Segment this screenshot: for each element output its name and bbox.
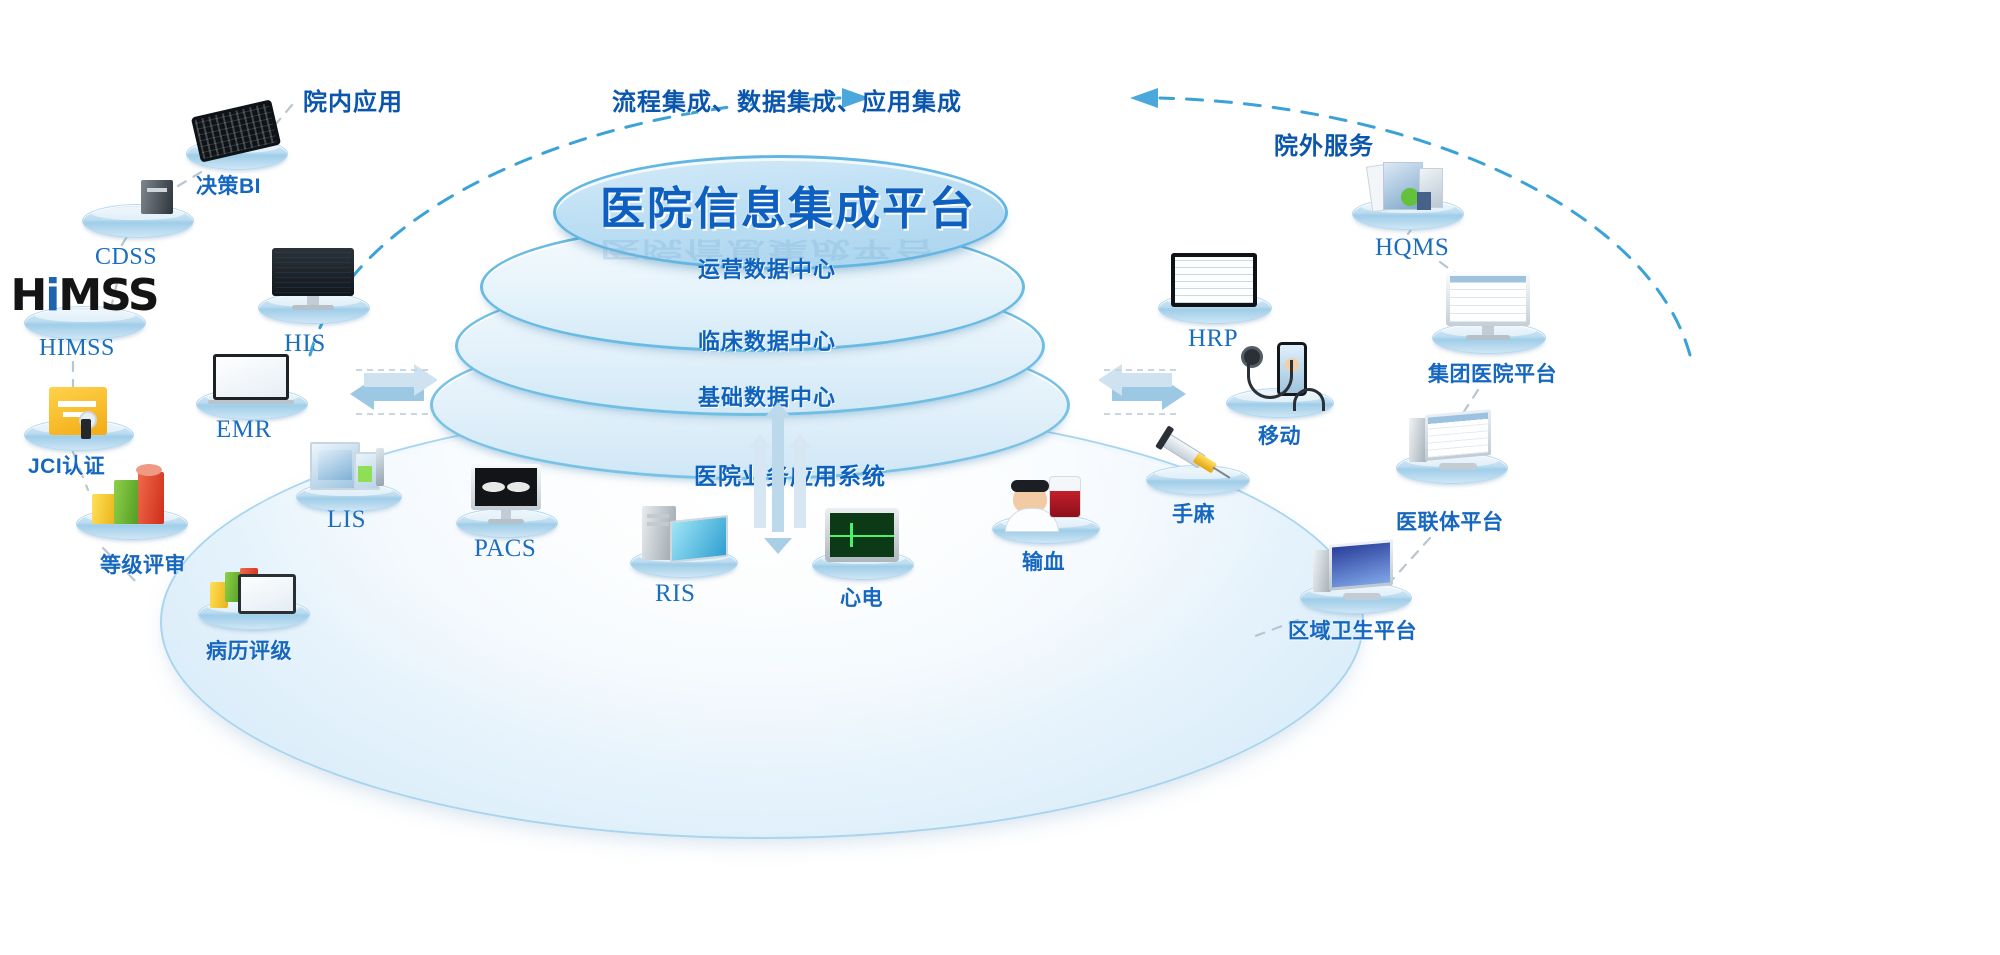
label-group-hospital-platform: 集团医院平台	[1428, 358, 1557, 388]
desktop-blue-icon	[1313, 542, 1397, 600]
server-rack-icon	[101, 168, 173, 220]
node-hqms[interactable]	[1352, 158, 1462, 230]
label-decision-bi: 决策BI	[196, 170, 261, 200]
laptop-chart-icon	[210, 556, 296, 614]
label-lis: LIS	[327, 506, 366, 534]
mobile-stethoscope-icon	[1237, 342, 1321, 406]
label-himss: HIMSS	[39, 335, 115, 362]
label-ris: RIS	[655, 580, 695, 608]
blood-transfusion-icon	[1005, 472, 1085, 532]
desktop-network-icon	[1409, 412, 1493, 470]
node-himss[interactable]: HiMSS	[24, 268, 144, 340]
node-pacs[interactable]	[456, 470, 556, 538]
desktop-portal-icon	[1446, 272, 1530, 340]
bidirectional-arrows-icon-left	[340, 356, 448, 422]
laptop-report-icon	[1171, 253, 1257, 309]
lab-analyzer-icon	[310, 440, 386, 498]
node-record-rating[interactable]	[198, 558, 308, 630]
label-anesthesia: 手麻	[1172, 498, 1215, 528]
label-ecg: 心电	[840, 582, 883, 612]
node-regional-health-platform[interactable]	[1300, 540, 1410, 614]
ecg-monitor-icon	[825, 508, 899, 566]
vertical-double-arrow-icon	[744, 408, 814, 538]
label-hrp: HRP	[1188, 325, 1238, 353]
label-record-rating: 病历评级	[206, 635, 292, 665]
label-medical-alliance-platform: 医联体平台	[1396, 506, 1504, 536]
node-cdss[interactable]	[82, 168, 192, 238]
documents-folder-icon	[1367, 160, 1447, 214]
node-emr[interactable]	[196, 350, 306, 420]
server-monitor-icon	[642, 506, 724, 564]
node-medical-alliance-platform[interactable]	[1396, 410, 1506, 484]
himss-logo-icon: HiMSS	[10, 274, 157, 318]
xray-monitor-icon	[471, 464, 541, 524]
node-hrp[interactable]	[1158, 250, 1270, 324]
label-mobile: 移动	[1258, 420, 1301, 450]
node-mobile[interactable]	[1226, 342, 1332, 418]
label-blood-transfusion: 输血	[1022, 546, 1065, 576]
bar-chart-blocks-icon	[92, 468, 170, 524]
label-pacs: PACS	[474, 535, 536, 563]
desktop-monitor-icon	[272, 248, 354, 310]
bidirectional-arrows-icon-right	[1088, 356, 1196, 422]
label-hqms: HQMS	[1375, 234, 1449, 262]
diagram-canvas: 医院信息集成平台 医院信息集成平台 运营数据中心 临床数据中心 基础数据中心 医…	[0, 0, 2000, 955]
certificate-seal-icon	[49, 387, 107, 435]
node-group-hospital-platform[interactable]	[1432, 278, 1544, 354]
node-his[interactable]	[258, 248, 368, 324]
node-ecg[interactable]	[812, 508, 912, 580]
node-jci[interactable]	[24, 385, 132, 451]
label-regional-health-platform: 区域卫生平台	[1288, 615, 1417, 645]
node-grade-review[interactable]	[76, 470, 186, 540]
node-ris[interactable]	[630, 508, 736, 578]
node-blood-transfusion[interactable]	[992, 472, 1098, 544]
node-anesthesia[interactable]	[1146, 425, 1248, 495]
label-cdss: CDSS	[95, 244, 157, 271]
laptop-icon	[213, 354, 289, 404]
label-grade-review: 等级评审	[100, 549, 186, 579]
node-decision-bi[interactable]	[186, 108, 286, 170]
node-lis[interactable]	[296, 440, 400, 512]
label-emr: EMR	[216, 416, 272, 444]
